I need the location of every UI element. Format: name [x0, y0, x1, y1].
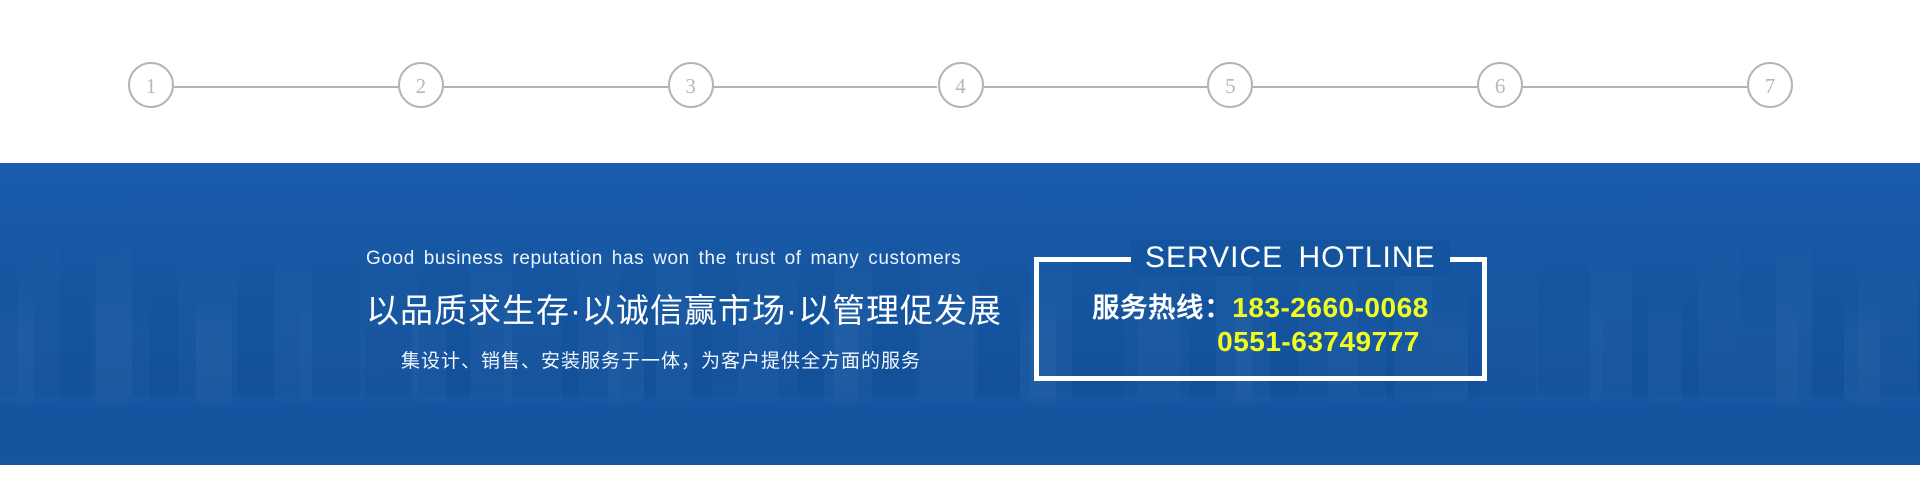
- slogan-block: Good business reputation has won the tru…: [366, 248, 956, 373]
- stepper-step-4[interactable]: 4: [938, 62, 984, 108]
- hotline-number-secondary[interactable]: 0551-63749777: [1217, 326, 1420, 357]
- promo-ground-overlay: [0, 395, 1920, 465]
- stepper-track: 1234567: [0, 0, 1920, 163]
- stepper-step-7[interactable]: 7: [1747, 62, 1793, 108]
- stepper-step-6[interactable]: 6: [1477, 62, 1523, 108]
- stepper-connector-line: [1253, 86, 1477, 88]
- hotline-secondary-row: 0551-63749777: [1034, 326, 1487, 358]
- stepper-step-5[interactable]: 5: [1207, 62, 1253, 108]
- hotline-title: SERVICE HOTLINE: [1131, 240, 1450, 276]
- stepper-step-3[interactable]: 3: [668, 62, 714, 108]
- stepper-connector-line: [174, 86, 398, 88]
- hotline-primary-row: 服务热线：183-2660-0068: [1034, 286, 1487, 325]
- slogan-chinese-sub: 集设计、销售、安装服务于一体，为客户提供全方面的服务: [366, 346, 956, 373]
- stepper-connector-line: [444, 86, 668, 88]
- slogan-chinese-main: 以品质求生存·以诚信赢市场·以管理促发展: [366, 284, 956, 332]
- stepper-connector-line: [984, 86, 1208, 88]
- stepper-connector-line: [714, 86, 938, 88]
- stepper-connector-line: [1523, 86, 1747, 88]
- stepper-step-1[interactable]: 1: [128, 62, 174, 108]
- hotline-number-primary[interactable]: 183-2660-0068: [1232, 292, 1428, 323]
- stepper-strip: 1234567: [0, 0, 1920, 163]
- stepper-step-2[interactable]: 2: [398, 62, 444, 108]
- slogan-english: Good business reputation has won the tru…: [366, 248, 956, 270]
- hotline-label: 服务热线：: [1092, 293, 1232, 323]
